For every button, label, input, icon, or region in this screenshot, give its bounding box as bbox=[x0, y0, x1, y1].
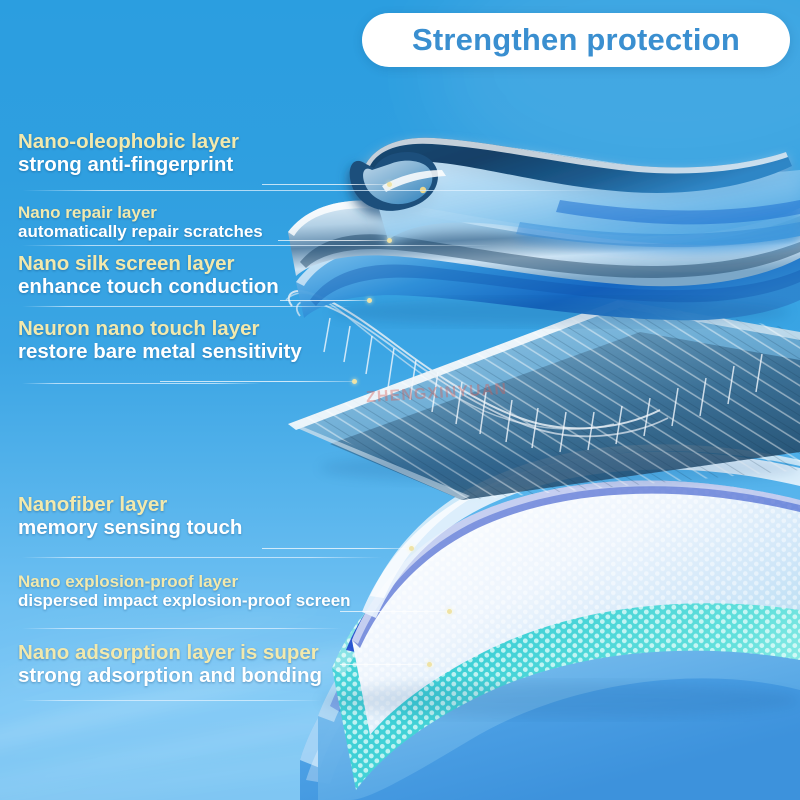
layer-label-desc: enhance touch conduction bbox=[18, 276, 279, 299]
layer-label-title: Nano explosion-proof layer bbox=[18, 572, 351, 591]
layer-label-desc: strong anti-fingerprint bbox=[18, 154, 239, 177]
layer-label-desc: automatically repair scratches bbox=[18, 222, 263, 241]
layer-label-title: Nano silk screen layer bbox=[18, 253, 279, 276]
layer-label-desc: strong adsorption and bonding bbox=[18, 665, 322, 688]
layer-label-title: Nano-oleophobic layer bbox=[18, 131, 239, 154]
layer-label-title: Nano adsorption layer is super bbox=[18, 642, 322, 665]
base-slab-group bbox=[300, 535, 800, 800]
layer-label-title: Nano repair layer bbox=[18, 203, 263, 222]
leader-dot-neuron-nano-touch bbox=[352, 379, 357, 384]
leader-dot-nano-oleophobic bbox=[387, 182, 392, 187]
streak-3 bbox=[0, 736, 458, 800]
layer-label-nanofiber: Nanofiber layermemory sensing touch bbox=[18, 494, 242, 540]
leader-line-nano-silk-screen bbox=[280, 300, 370, 301]
divider-2 bbox=[22, 306, 352, 307]
watermark: ZHENGXINYUAN bbox=[366, 381, 508, 408]
nanofiber-top-plate bbox=[362, 444, 800, 618]
divider-5 bbox=[22, 628, 342, 629]
leader-line-nanofiber bbox=[262, 548, 412, 549]
streak-4 bbox=[520, 723, 800, 781]
layer-label-desc: restore bare metal sensitivity bbox=[18, 341, 302, 364]
divider-6 bbox=[22, 700, 322, 701]
leader-line-nano-adsorption bbox=[340, 664, 430, 665]
page-title-badge: Strengthen protection bbox=[362, 13, 790, 67]
layer-label-title: Nanofiber layer bbox=[18, 494, 242, 517]
layer-label-nano-explosion-proof: Nano explosion-proof layerdispersed impa… bbox=[18, 572, 351, 610]
divider-0 bbox=[22, 190, 602, 191]
inter-layer-shadows bbox=[320, 298, 800, 718]
silk-screen-film bbox=[296, 241, 800, 321]
nano-oleophobic-film bbox=[350, 138, 800, 247]
explosion-proof-slab-group bbox=[318, 500, 800, 800]
leader-line-neuron-nano-touch bbox=[160, 381, 355, 382]
layer-label-nano-repair: Nano repair layerautomatically repair sc… bbox=[18, 203, 263, 241]
streak-5 bbox=[561, 674, 800, 737]
layer-label-neuron-nano-touch: Neuron nano touch layerrestore bare meta… bbox=[18, 318, 302, 364]
nano-repair-film bbox=[288, 200, 800, 286]
honeycomb-white-layer bbox=[340, 460, 800, 760]
layer-label-desc: dispersed impact explosion-proof screen bbox=[18, 591, 351, 610]
streak-2 bbox=[0, 691, 456, 800]
layer-label-nano-silk-screen: Nano silk screen layerenhance touch cond… bbox=[18, 253, 279, 299]
leader-line-nano-oleophobic bbox=[262, 184, 390, 185]
product-infographic: Strengthen protection Nano-oleophobic la… bbox=[0, 0, 800, 800]
honeycomb-cyan-layer bbox=[320, 480, 800, 800]
leader-dot-nano-silk-screen bbox=[367, 298, 372, 303]
divider-4 bbox=[22, 557, 382, 558]
divider-3 bbox=[22, 383, 262, 384]
neuron-mesh-layer bbox=[280, 290, 800, 510]
leader-line-nano-repair bbox=[278, 240, 390, 241]
layer-label-nano-adsorption: Nano adsorption layer is superstrong ads… bbox=[18, 642, 322, 688]
leader-dot-nano-explosion-proof bbox=[447, 609, 452, 614]
leader-dot-nanofiber bbox=[409, 546, 414, 551]
leader-dot-nano-adsorption bbox=[427, 662, 432, 667]
leader-dot-nano-repair bbox=[387, 238, 392, 243]
leader-line-nano-explosion-proof bbox=[340, 611, 450, 612]
layer-label-title: Neuron nano touch layer bbox=[18, 318, 302, 341]
divider-1 bbox=[22, 245, 492, 246]
layer-label-desc: memory sensing touch bbox=[18, 517, 242, 540]
page-title: Strengthen protection bbox=[412, 22, 740, 58]
layer-label-nano-oleophobic: Nano-oleophobic layerstrong anti-fingerp… bbox=[18, 131, 239, 177]
